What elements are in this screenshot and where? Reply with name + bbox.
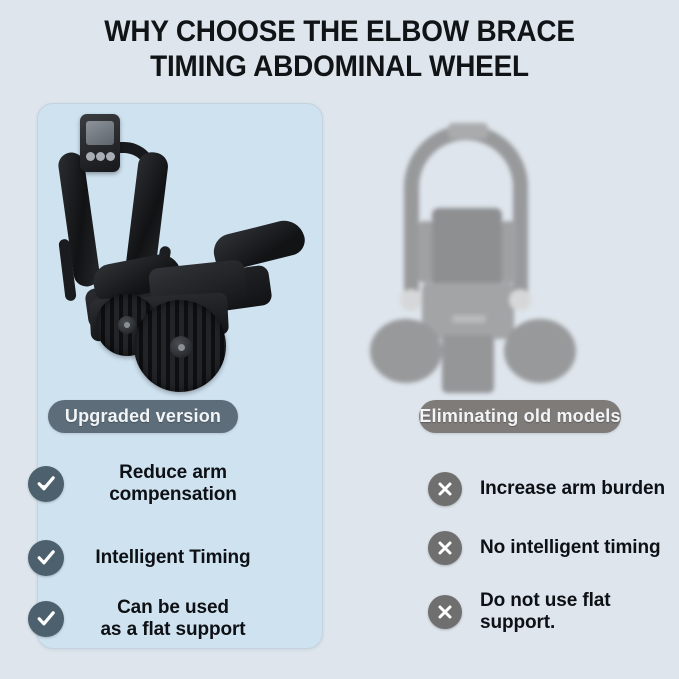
feature-row-increase-arm-burden: Increase arm burden — [428, 472, 668, 506]
feature-row-reduce-arm-compensation: Reduce armcompensation — [28, 462, 280, 506]
roller-body-slot — [452, 315, 486, 323]
page-title-line-1: WHY CHOOSE THE ELBOW BRACE — [24, 14, 655, 49]
check-icon — [28, 466, 64, 502]
feature-label: Reduce armcompensation — [64, 462, 280, 506]
roller-body — [422, 283, 514, 339]
page-title: WHY CHOOSE THE ELBOW BRACE TIMING ABDOMI… — [0, 14, 679, 84]
roller-wheel-left — [370, 319, 442, 383]
feature-label: Do not use flat support. — [462, 590, 678, 634]
lcd-button-1 — [86, 152, 95, 161]
center-pad — [432, 208, 502, 290]
old-model-product-card — [356, 103, 656, 649]
hub-screw-front — [178, 344, 185, 351]
lcd-display-unit — [80, 114, 120, 172]
lcd-button-2 — [96, 152, 105, 161]
roller-wheel-right — [504, 319, 576, 383]
feature-row-do-not-use-flat-support: Do not use flat support. — [428, 590, 678, 634]
roller-stem — [442, 335, 494, 393]
upgraded-product-image — [38, 104, 322, 386]
old-model-product-image — [356, 103, 656, 385]
side-pad-right — [500, 221, 516, 283]
feature-label: No intelligent timing — [462, 537, 668, 559]
lcd-screen — [86, 121, 114, 145]
upgraded-version-badge: Upgraded version — [48, 400, 238, 433]
hub-screw-rear — [124, 322, 130, 328]
feature-label: Increase arm burden — [462, 478, 668, 500]
axle-joint-right — [509, 289, 531, 311]
eliminating-old-models-badge: Eliminating old models — [419, 400, 621, 433]
x-icon — [428, 531, 462, 565]
feature-label: Intelligent Timing — [64, 547, 280, 569]
axle-joint-left — [400, 289, 422, 311]
x-icon — [428, 595, 462, 629]
handle-grip-cap — [448, 123, 488, 139]
page-title-line-2: TIMING ABDOMINAL WHEEL — [24, 49, 655, 84]
feature-row-flat-support: Can be usedas a flat support — [28, 597, 280, 641]
feature-row-no-intelligent-timing: No intelligent timing — [428, 531, 668, 565]
check-icon — [28, 601, 64, 637]
lcd-button-3 — [106, 152, 115, 161]
feature-label: Can be usedas a flat support — [64, 597, 280, 641]
feature-row-intelligent-timing: Intelligent Timing — [28, 540, 280, 576]
check-icon — [28, 540, 64, 576]
ab-wheel-illustration — [38, 104, 322, 386]
ab-roller-illustration — [356, 103, 656, 385]
x-icon — [428, 472, 462, 506]
